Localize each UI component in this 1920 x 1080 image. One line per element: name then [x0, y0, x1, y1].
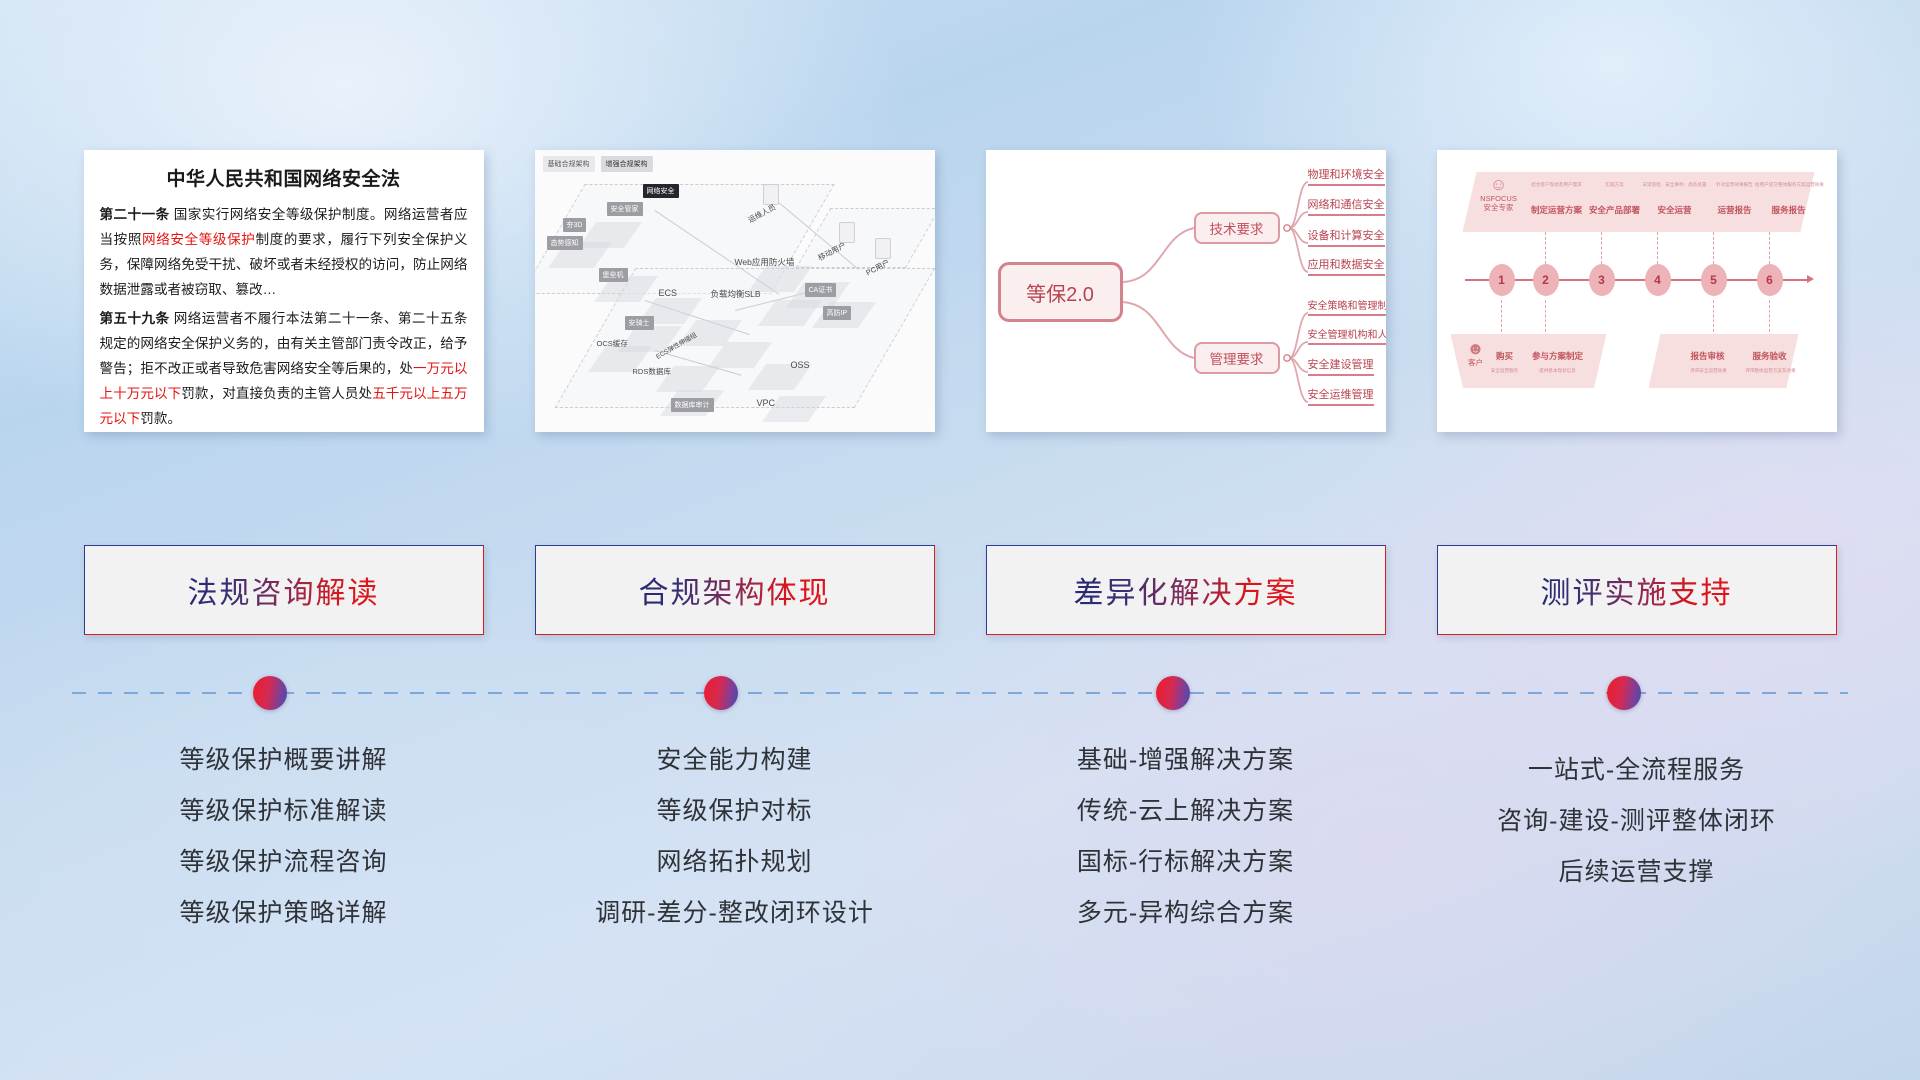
arch-label-oss: OSS [791, 360, 810, 370]
poster-root: 中华人民共和国网络安全法 第二十一条 国家实行网络安全等级保护制度。网络运营者应… [0, 0, 1920, 1080]
arch-label-xian3d: 夯3D [563, 218, 587, 232]
mindmap-leaf-mgmt-3: 安全运维管理 [1308, 386, 1374, 406]
arch-label-slb: 负载均衡SLB [711, 288, 761, 300]
arch-label-situation-awareness: 态势感知 [547, 236, 583, 250]
ns-dash-bottom-5 [1713, 300, 1714, 332]
card-mindmap-dengbao[interactable]: 等保2.0 技术要求 管理要求 物理和环境安全 网络和通信安全 设备和计算安全 … [986, 150, 1386, 432]
lists-row: 等级保护概要讲解 等级保护标准解读 等级保护流程咨询 等级保护策略详解 安全能力… [0, 735, 1920, 939]
law-article-2-label: 第五十九条 [100, 311, 170, 326]
ns-dash-top-3 [1601, 232, 1602, 264]
ns-dash-top-5 [1713, 232, 1714, 264]
timeline-dot-4[interactable] [1607, 676, 1641, 710]
arch-label-rds-db: RDS数据库 [633, 366, 671, 377]
mindmap-root: 等保2.0 [998, 262, 1123, 322]
arch-label-anti-ddos-ip: 高防IP [823, 306, 852, 320]
pill-label-2: 差异化解决方案 [1074, 568, 1298, 612]
card-nsfocus-service-flow[interactable]: ☺ NSFOCUS 安全专家 结合客户现状及用户需求 制定运营方案 实施方案 安… [1437, 150, 1837, 432]
law-article-1: 第二十一条 国家实行网络安全等级保护制度。网络运营者应当按照网络安全等级保护制度… [100, 202, 468, 302]
ns-step-1[interactable]: 1 [1489, 264, 1515, 296]
arch-label-ocs-cache: OCS缓存 [597, 338, 628, 349]
ns-bottom-title-1: 参与方案制定 [1521, 350, 1595, 362]
timeline-dot-3[interactable] [1156, 676, 1190, 710]
card-cloud-architecture[interactable]: 基础合规架构 增强合规架构 [535, 150, 935, 432]
list-item: 传统-云上解决方案 [986, 786, 1386, 837]
law-article-2-seg-4: 罚款。 [140, 411, 181, 426]
arch-label-ca-cert: CA证书 [805, 283, 837, 297]
ns-expert-line1: NSFOCUS [1471, 194, 1527, 203]
list-column-3: 一站式-全流程服务 咨询-建设-测评整体闭环 后续运营支撑 [1437, 735, 1837, 939]
ns-bottom-sub-1: 提供基本现状信息 [1521, 368, 1595, 374]
law-article-1-seg-1: 网络安全等级保护 [142, 232, 255, 247]
list-column-1: 安全能力构建 等级保护对标 网络拓扑规划 调研-差分-整改闭环设计 [535, 735, 935, 939]
list-item: 网络拓扑规划 [535, 837, 935, 888]
pill-label-3: 测评实施支持 [1541, 568, 1733, 612]
cards-row: 中华人民共和国网络安全法 第二十一条 国家实行网络安全等级保护制度。网络运营者应… [0, 150, 1920, 432]
ns-top-sub-4: 给用户提交整体服务方案运营效果 [1725, 182, 1837, 188]
ns-step-6[interactable]: 6 [1757, 264, 1783, 296]
arch-label-ecs: ECS [659, 288, 678, 298]
arch-label-network-security: 网络安全 [643, 184, 679, 198]
ns-bottom-title-2: 报告审核 [1673, 350, 1743, 362]
arch-doc-pc [875, 238, 891, 259]
card-cybersecurity-law[interactable]: 中华人民共和国网络安全法 第二十一条 国家实行网络安全等级保护制度。网络运营者应… [84, 150, 484, 432]
mindmap-leaf-mgmt-1: 安全管理机构和人员 [1308, 326, 1386, 345]
ns-dash-top-6 [1769, 232, 1770, 264]
law-title: 中华人民共和国网络安全法 [100, 164, 468, 191]
ns-dash-top-2 [1545, 232, 1546, 264]
law-article-2: 第五十九条 网络运营者不履行本法第二十一条、第二十五条规定的网络安全保护义务的，… [100, 306, 468, 431]
mindmap-branch-management: 管理要求 [1194, 342, 1280, 374]
list-item: 等级保护概要讲解 [84, 735, 484, 786]
arch-label-anqishi: 安骑士 [625, 316, 654, 330]
list-item: 国标-行标解决方案 [986, 837, 1386, 888]
mindmap-branch-technical: 技术要求 [1194, 212, 1280, 244]
ns-step-4[interactable]: 4 [1645, 264, 1671, 296]
ns-dash-bottom-2 [1545, 300, 1546, 332]
list-item: 多元-异构综合方案 [986, 888, 1386, 939]
list-item: 一站式-全流程服务 [1437, 745, 1837, 796]
mindmap-leaf-tech-3: 应用和数据安全 [1308, 256, 1385, 276]
arch-canvas: 网络安全 安全管家 夯3D 态势感知 堡垒机 安骑士 CA证书 高防IP 数据库… [535, 150, 935, 432]
timeline-dashed-line [72, 692, 1848, 694]
list-item: 等级保护标准解读 [84, 786, 484, 837]
list-item: 等级保护对标 [535, 786, 935, 837]
list-item: 咨询-建设-测评整体闭环 [1437, 796, 1837, 847]
timeline-dot-1[interactable] [253, 676, 287, 710]
list-item: 调研-差分-整改闭环设计 [535, 888, 935, 939]
mindmap-leaf-tech-1: 网络和通信安全 [1308, 196, 1385, 216]
ns-top-title-4: 服务报告 [1733, 204, 1837, 216]
list-item: 安全能力构建 [535, 735, 935, 786]
arch-label-bastion-host: 堡垒机 [599, 268, 628, 282]
mindmap-leaf-tech-2: 设备和计算安全 [1308, 227, 1385, 247]
arch-label-waf: Web应用防火墙 [735, 256, 795, 268]
pill-assessment-support[interactable]: 测评实施支持 [1437, 545, 1837, 635]
arch-label-db-audit: 数据库审计 [671, 398, 714, 412]
ns-step-3[interactable]: 3 [1589, 264, 1615, 296]
list-column-0: 等级保护概要讲解 等级保护标准解读 等级保护流程咨询 等级保护策略详解 [84, 735, 484, 939]
mindmap-leaf-mgmt-0: 安全策略和管理制度 [1308, 297, 1386, 316]
ns-timeline-arrow-icon [1807, 275, 1814, 283]
pill-differentiated-solution[interactable]: 差异化解决方案 [986, 545, 1386, 635]
ns-bottom-title-3: 服务验收 [1735, 350, 1805, 362]
list-item: 基础-增强解决方案 [986, 735, 1386, 786]
pills-row: 法规咨询解读 合规架构体现 差异化解决方案 测评实施支持 [0, 545, 1920, 635]
ns-step-2[interactable]: 2 [1533, 264, 1559, 296]
ns-step-5[interactable]: 5 [1701, 264, 1727, 296]
ns-dash-bottom-6 [1769, 300, 1770, 332]
list-column-2: 基础-增强解决方案 传统-云上解决方案 国标-行标解决方案 多元-异构综合方案 [986, 735, 1386, 939]
mindmap-leaf-tech-0: 物理和环境安全 [1308, 166, 1385, 186]
law-article-2-seg-2: 罚款，对直接负责的主管人员处 [181, 386, 372, 401]
mindmap-leaf-mgmt-2: 安全建设管理 [1308, 356, 1374, 376]
pill-compliance-architecture[interactable]: 合规架构体现 [535, 545, 935, 635]
ns-bottom-sub-3: 评审整体运营方案及效果 [1729, 368, 1813, 374]
list-item: 后续运营支撑 [1437, 847, 1837, 898]
arch-zone-users [795, 208, 934, 268]
pill-label-1: 合规架构体现 [639, 568, 831, 612]
pill-label-0: 法规咨询解读 [188, 568, 380, 612]
pill-regulation-consulting[interactable]: 法规咨询解读 [84, 545, 484, 635]
arch-label-vpc: VPC [757, 398, 776, 408]
ns-dash-top-4 [1657, 232, 1658, 264]
law-article-1-label: 第二十一条 [100, 207, 170, 222]
list-item: 等级保护流程咨询 [84, 837, 484, 888]
list-item: 等级保护策略详解 [84, 888, 484, 939]
timeline-dot-2[interactable] [704, 676, 738, 710]
ns-dash-bottom-1 [1501, 300, 1502, 332]
arch-label-security-steward: 安全管家 [607, 202, 643, 216]
